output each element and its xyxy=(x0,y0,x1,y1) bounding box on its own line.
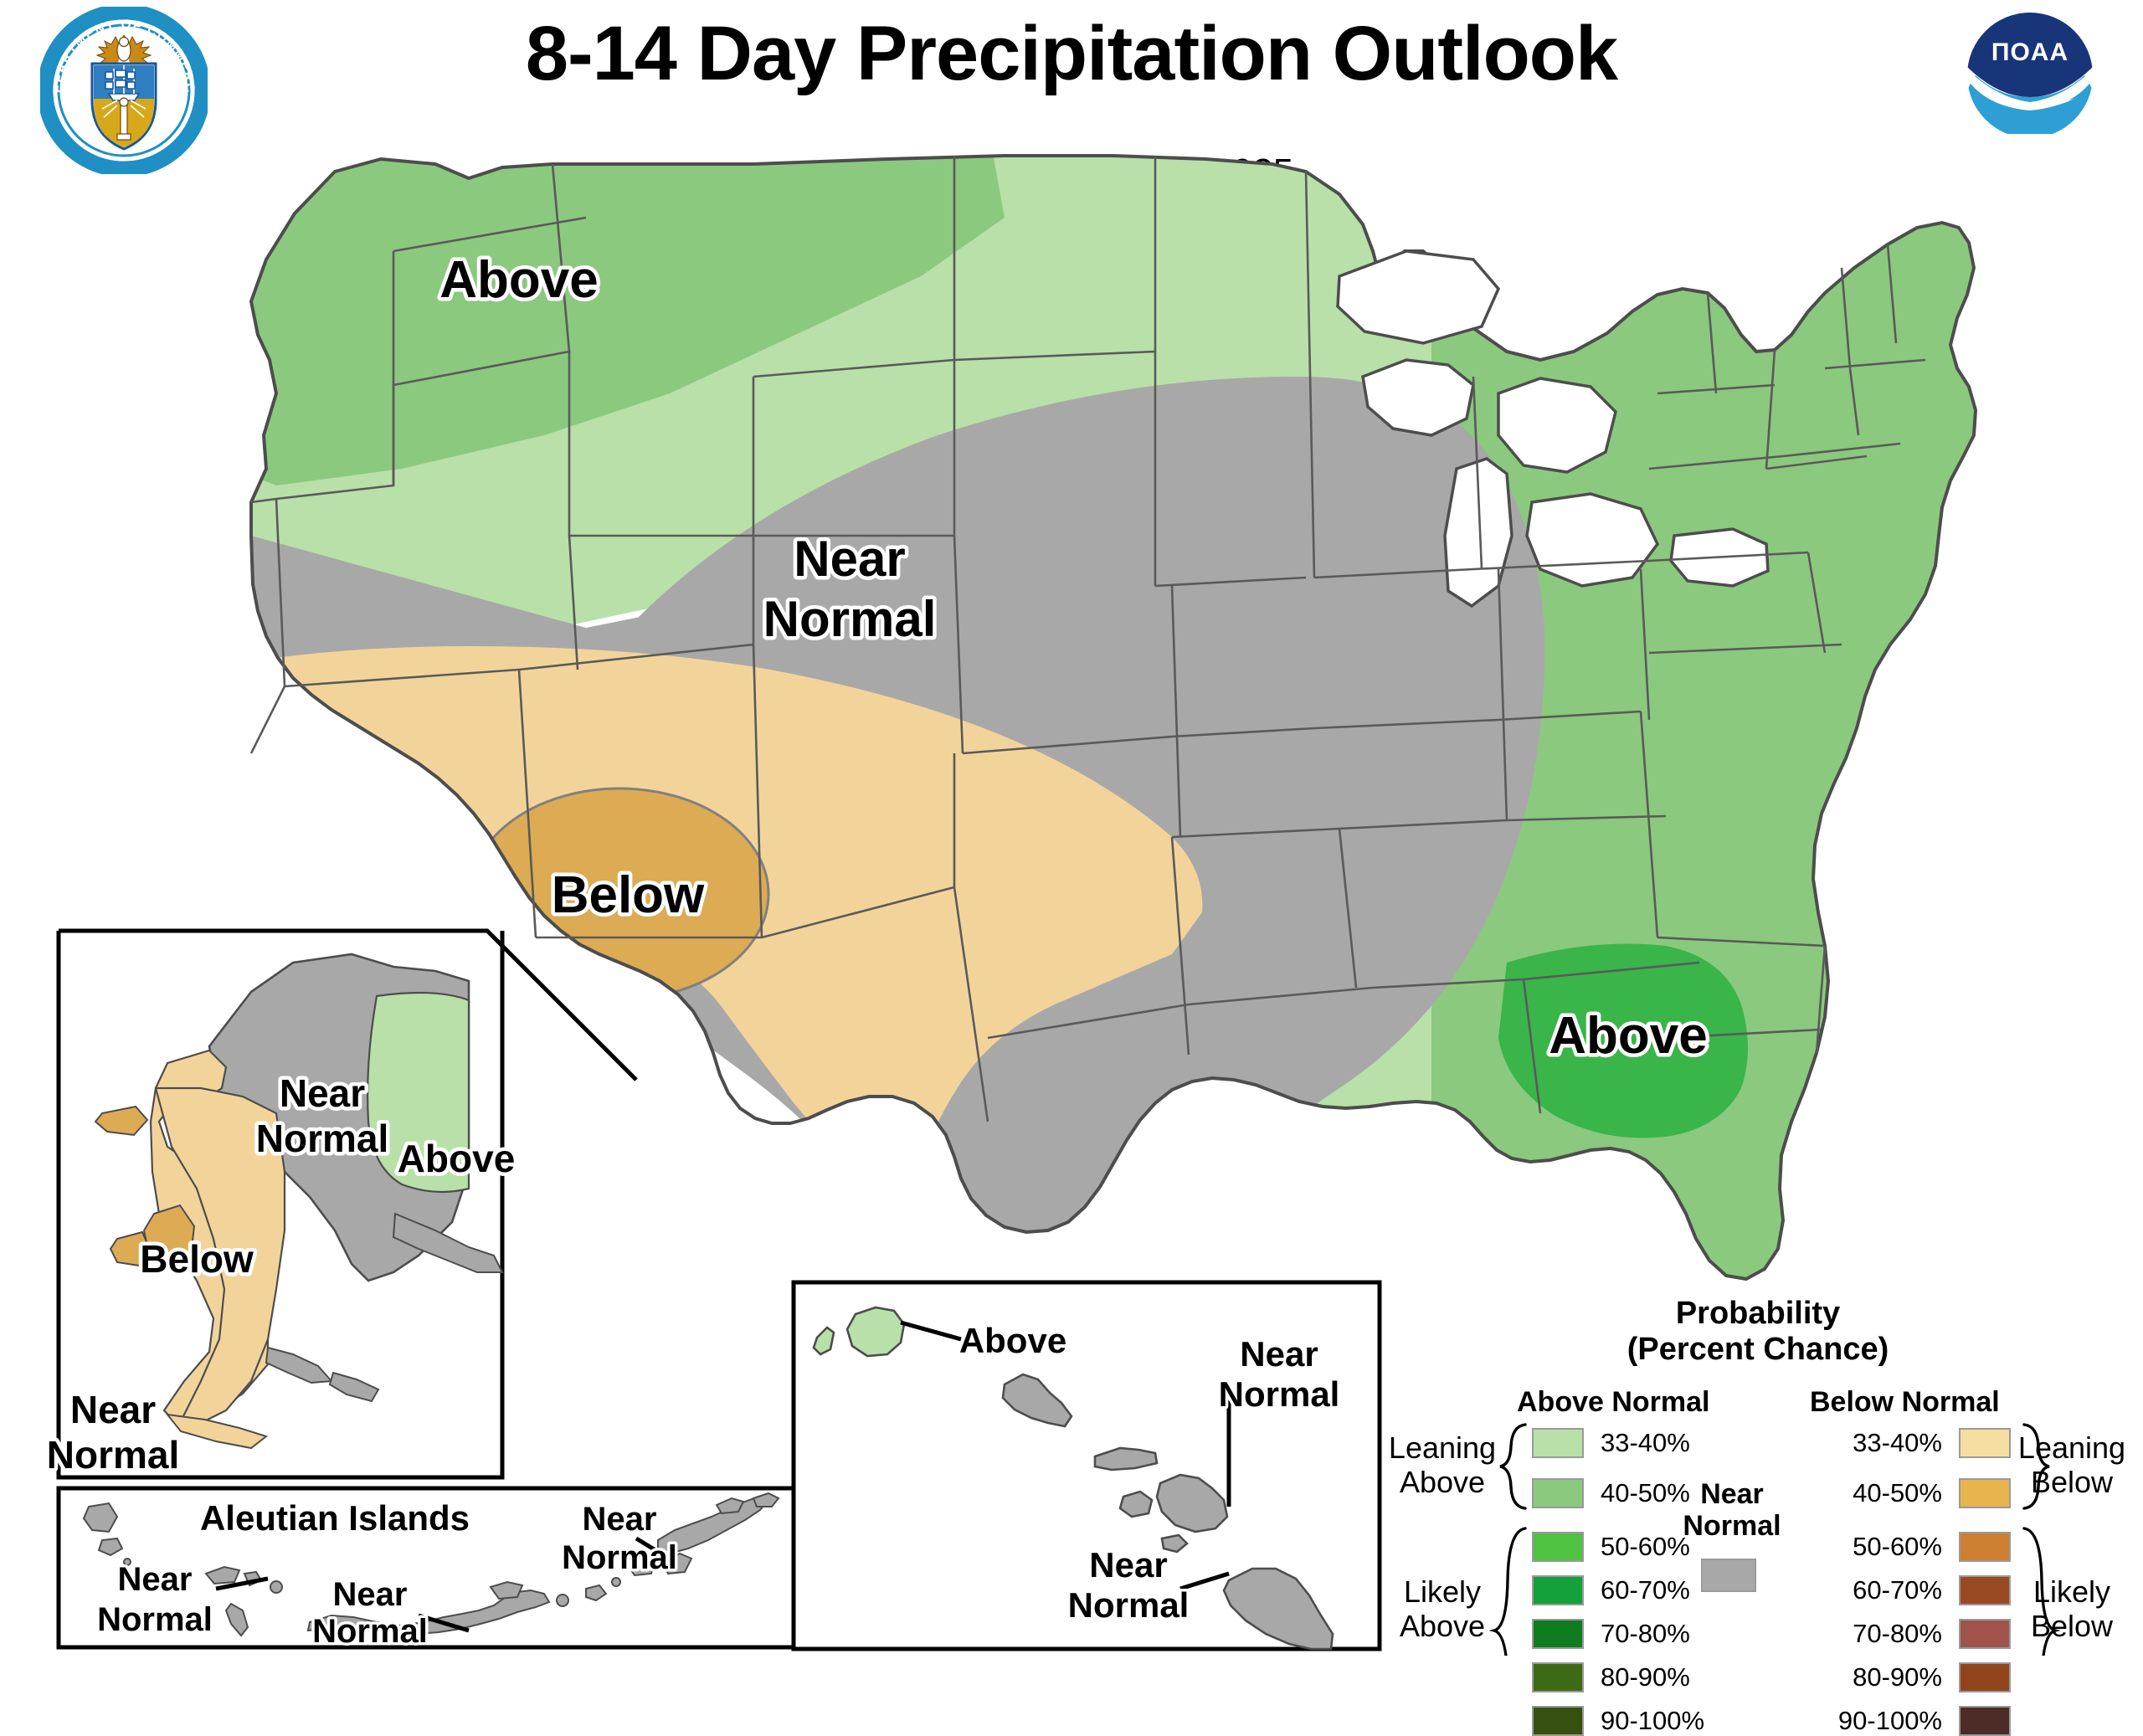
legend-pct-above-50-60: 50-60% xyxy=(1601,1532,1690,1562)
legend-swatch-above-90-100 xyxy=(1532,1706,1584,1736)
legend-swatch-below-40-50 xyxy=(1959,1478,2011,1508)
alaska-inset: Near Normal Above Below Near Normal xyxy=(47,931,636,1477)
legend-pct-above-33-40: 33-40% xyxy=(1601,1428,1690,1458)
legend-pct-below-40-50: 40-50% xyxy=(1817,1478,1942,1508)
legend-pct-above-80-90: 80-90% xyxy=(1601,1662,1690,1692)
legend-swatch-above-80-90 xyxy=(1532,1662,1584,1692)
aleutian-label-1-line2: Normal xyxy=(97,1601,213,1638)
aleutian-label-2-line1: Near xyxy=(333,1576,408,1613)
legend-swatch-below-33-40 xyxy=(1959,1428,2011,1458)
legend-swatch-above-60-70 xyxy=(1532,1575,1584,1605)
legend-braces xyxy=(1373,1281,2143,1656)
hawaii-label-near-normal1-line1: Near xyxy=(1240,1334,1318,1374)
aleutian-label-2-line2: Normal xyxy=(312,1613,428,1650)
alaska-label-near-normal2-line1: Near xyxy=(70,1388,156,1431)
alaska-label-above: Above xyxy=(398,1137,516,1180)
hawaii-inset: Above Near Normal Near Normal xyxy=(794,1282,1380,1649)
legend-swatch-above-70-80 xyxy=(1532,1619,1584,1649)
aleutian-label-1-line1: Near xyxy=(118,1561,193,1598)
legend-pct-below-90-100: 90-100% xyxy=(1817,1706,1942,1736)
hawaii-label-near-normal1-line2: Normal xyxy=(1219,1374,1340,1414)
legend-swatch-below-80-90 xyxy=(1959,1662,2011,1692)
legend-pct-above-40-50: 40-50% xyxy=(1601,1478,1690,1508)
alaska-label-near-normal-line2: Normal xyxy=(256,1117,388,1160)
map-label-above-northwest: Above xyxy=(439,251,598,309)
legend-pct-below-33-40: 33-40% xyxy=(1817,1428,1942,1458)
alaska-label-below: Below xyxy=(140,1237,254,1281)
aleutian-label-3-line1: Near xyxy=(583,1501,657,1538)
legend-swatch-below-60-70 xyxy=(1959,1575,2011,1605)
map-label-below-southwest: Below xyxy=(552,866,705,924)
legend-swatch-above-40-50 xyxy=(1532,1478,1584,1508)
hawaii-label-above: Above xyxy=(959,1321,1066,1360)
legend-pct-above-70-80: 70-80% xyxy=(1601,1619,1690,1649)
map-label-near-normal-line2: Normal xyxy=(763,591,937,647)
legend-swatch-above-33-40 xyxy=(1532,1428,1584,1458)
legend-swatch-above-50-60 xyxy=(1532,1532,1584,1562)
legend-pct-below-60-70: 60-70% xyxy=(1817,1575,1942,1605)
map-label-near-normal-line1: Near xyxy=(794,531,905,587)
aleutian-inset: Aleutian Islands Near Norm xyxy=(59,1488,795,1650)
map-label-above-southeast: Above xyxy=(1549,1007,1707,1065)
legend-swatch-below-90-100 xyxy=(1959,1706,2011,1736)
alaska-label-near-normal-line1: Near xyxy=(280,1071,365,1115)
hawaii-label-near-normal2-line1: Near xyxy=(1089,1545,1167,1584)
probability-legend: Probability (Percent Chance) Above Norma… xyxy=(1373,1281,2143,1656)
legend-pct-above-90-100: 90-100% xyxy=(1601,1706,1704,1736)
aleutian-inset-title: Aleutian Islands xyxy=(200,1498,470,1538)
legend-pct-above-60-70: 60-70% xyxy=(1601,1575,1690,1605)
hawaii-label-near-normal2-line2: Normal xyxy=(1068,1585,1190,1625)
alaska-label-near-normal2-line2: Normal xyxy=(47,1433,179,1477)
legend-pct-below-50-60: 50-60% xyxy=(1817,1532,1942,1562)
legend-pct-below-80-90: 80-90% xyxy=(1817,1662,1942,1692)
aleutian-label-3-line2: Normal xyxy=(562,1539,677,1576)
legend-swatch-below-50-60 xyxy=(1959,1532,2011,1562)
legend-swatch-below-70-80 xyxy=(1959,1619,2011,1649)
legend-pct-below-70-80: 70-80% xyxy=(1817,1619,1942,1649)
alaska-landmass xyxy=(95,954,502,1448)
